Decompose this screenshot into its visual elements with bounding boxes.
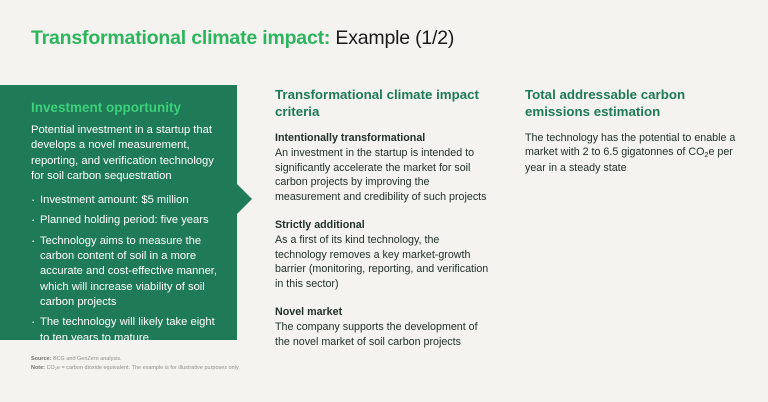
emissions-column: Total addressable carbon emissions estim… [525,85,740,175]
list-item: Investment amount: $5 million [31,193,221,208]
criterion-title: Novel market [275,305,490,319]
footnote-note-part-2: e = carbon dioxide equivalent. The examp… [57,365,240,371]
footnotes: Source: BCG and GenZero analysis. Note: … [31,355,731,373]
criterion-body: As a first of its kind technology, the t… [275,233,490,291]
criterion-block: Novel market The company supports the de… [275,305,490,349]
co2-subscript: 2 [55,367,57,371]
criterion-block: Strictly additional As a first of its ki… [275,218,490,291]
criterion-body: The company supports the development of … [275,320,490,349]
footnote-note-part-1: CO [45,365,55,371]
list-item: The technology will likely take eight to… [31,315,221,346]
co2-subscript: 2 [704,150,708,159]
criteria-column-heading: Transformational climate impact criteria [275,86,490,120]
emissions-column-heading: Total addressable carbon emissions estim… [525,86,740,120]
list-item: Planned holding period: five years [31,213,221,228]
content-columns: Investment opportunity Potential investm… [0,85,768,340]
panel-content: Investment opportunity Potential investm… [0,85,237,346]
footnote-source: Source: BCG and GenZero analysis. [31,355,731,364]
investment-opportunity-panel: Investment opportunity Potential investm… [0,85,237,340]
criterion-title: Intentionally transformational [275,131,490,145]
list-item: Technology aims to measure the carbon co… [31,234,221,310]
page-title-accent: Transformational climate impact: [31,27,330,49]
panel-arrow-pointer [237,184,252,214]
emissions-column-body: The technology has the potential to enab… [525,131,740,175]
footnote-source-text: BCG and GenZero analysis. [51,356,121,362]
panel-heading: Investment opportunity [31,99,221,116]
page-title-rest: Example (1/2) [330,27,454,49]
panel-bullet-list: Investment amount: $5 million Planned ho… [31,193,221,346]
criterion-block: Intentionally transformational An invest… [275,131,490,204]
criteria-column: Transformational climate impact criteria… [275,85,490,349]
footnote-note: Note: CO2e = carbon dioxide equivalent. … [31,364,731,373]
page-title: Transformational climate impact: Example… [31,26,454,50]
panel-intro-text: Potential investment in a startup that d… [31,123,221,184]
footnote-source-label: Source: [31,356,51,362]
criterion-body: An investment in the startup is intended… [275,146,490,204]
criterion-title: Strictly additional [275,218,490,232]
footnote-note-label: Note: [31,365,45,371]
